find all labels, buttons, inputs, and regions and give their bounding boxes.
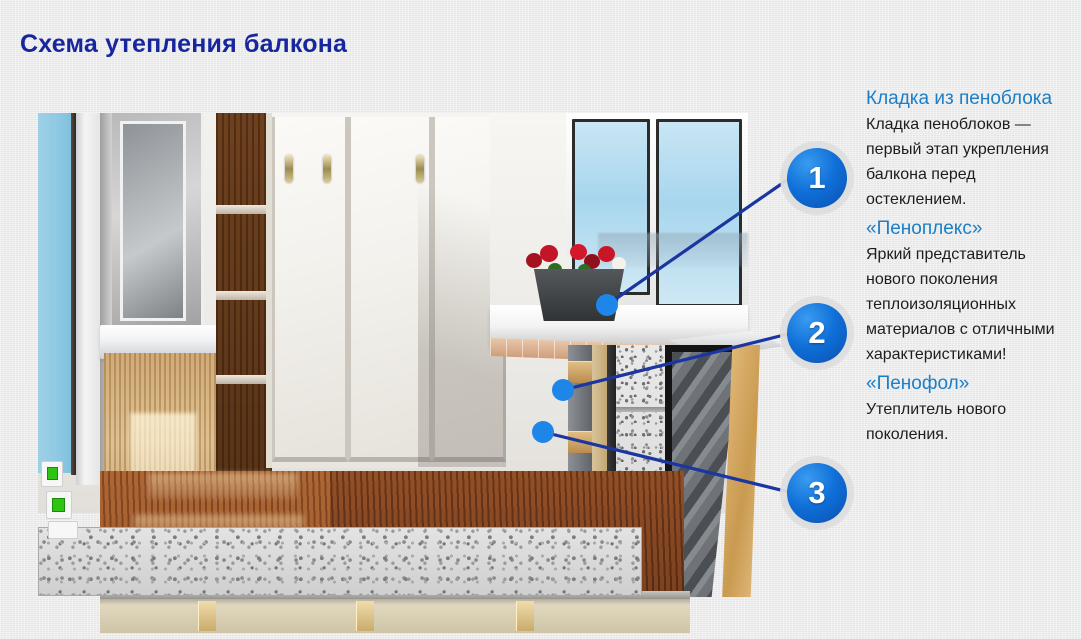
right-window-pane-2 <box>656 119 742 307</box>
sunlight-patch <box>148 473 298 499</box>
wood-batten <box>568 361 594 383</box>
legend-section-1: Кладка из пеноблока Кладка пеноблоков — … <box>866 86 1072 212</box>
legend-body-3: Утеплитель нового поколения. <box>866 397 1072 447</box>
legend-text-panel: Кладка из пеноблока Кладка пеноблоков — … <box>866 86 1072 451</box>
wardrobe-door-1 <box>272 117 348 462</box>
left-window-glass <box>38 113 72 473</box>
window-hardware-indicator <box>52 498 65 512</box>
callout-badge-2[interactable]: 2 <box>787 303 847 363</box>
window-hardware-indicator <box>47 467 58 480</box>
shelf-board <box>216 205 272 214</box>
wardrobe-handle-2[interactable] <box>323 155 331 183</box>
legend-heading-3: «Пенофол» <box>866 371 1072 396</box>
legend-section-2: «Пеноплекс» Яркий представитель нового п… <box>866 216 1072 367</box>
legend-heading-2: «Пеноплекс» <box>866 216 1072 241</box>
legend-heading-1: Кладка из пеноблока <box>866 86 1072 111</box>
floor-lag <box>516 601 534 631</box>
floor-lag <box>356 601 374 631</box>
screed-shadow <box>100 599 690 605</box>
callout-badge-3[interactable]: 3 <box>787 463 847 523</box>
wood-batten <box>568 431 594 453</box>
floor-lag <box>198 601 216 631</box>
callout-badge-1[interactable]: 1 <box>787 148 847 208</box>
balcony-insulation-illustration <box>38 113 744 596</box>
wardrobe-handle-1[interactable] <box>285 155 293 183</box>
legend-body-1: Кладка пеноблоков — первый этап укреплен… <box>866 112 1072 212</box>
shelf-board <box>216 375 272 384</box>
legend-section-3: «Пенофол» Утеплитель нового поколения. <box>866 371 1072 447</box>
foam-block-seam <box>616 407 668 412</box>
flower-planter-box <box>530 269 628 321</box>
legend-body-2: Яркий представитель нового поколения теп… <box>866 242 1072 367</box>
balcony-door-glass <box>120 121 186 321</box>
left-window-frame <box>76 113 102 485</box>
shelf-board <box>216 291 272 300</box>
concrete-slab <box>38 527 642 596</box>
window-hardware-plate <box>48 521 78 539</box>
page-title: Схема утепления балкона <box>20 30 347 59</box>
